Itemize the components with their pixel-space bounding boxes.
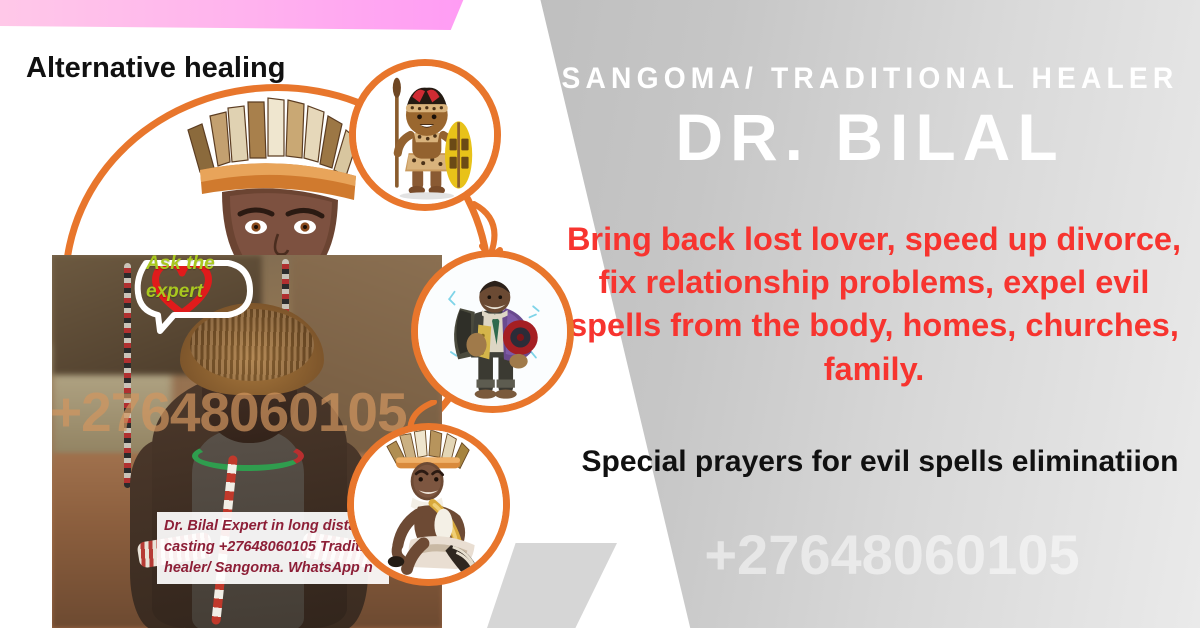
crouching-dancer-illustration-icon <box>354 430 503 579</box>
kicker-headline: SANGOMA/ TRADITIONAL HEALER <box>560 62 1180 96</box>
tagline-alternative-healing: Alternative healing <box>26 52 285 85</box>
phone-number-watermark: +27648060105 <box>582 522 1200 587</box>
advertisement-poster: Alternative healing <box>0 0 1200 628</box>
caption-line-3: healer/ Sangoma. WhatsApp n <box>164 558 383 579</box>
right-text-column: SANGOMA/ TRADITIONAL HEALER DR. BILAL Br… <box>540 0 1200 628</box>
traditional-healer-illustration-icon <box>418 257 567 406</box>
ask-the-expert-text: Ask the expert <box>146 250 256 305</box>
caption-line-2: casting +27648060105 Traditi <box>164 537 383 558</box>
bubble-traditional-healer[interactable] <box>411 250 574 413</box>
bubble-crouching-dancer[interactable] <box>347 423 510 586</box>
brand-name-title: DR. BILAL <box>540 104 1200 170</box>
pink-accent-band <box>0 0 465 30</box>
bubble-zulu-warrior[interactable] <box>349 59 501 211</box>
services-description: Bring back lost lover, speed up divorce,… <box>564 218 1184 391</box>
special-prayers-text: Special prayers for evil spells eliminat… <box>580 441 1180 482</box>
zulu-warrior-illustration-icon <box>356 66 494 204</box>
photo-beaded-necklace <box>192 441 304 471</box>
